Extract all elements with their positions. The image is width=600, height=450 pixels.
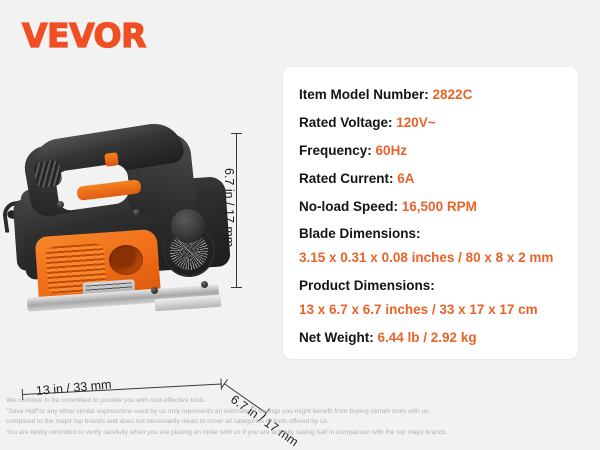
spec-value: 16,500 RPM: [402, 199, 477, 214]
electric-planer-illustration: [5, 105, 235, 320]
planer-screw: [151, 287, 158, 294]
spec-label: Blade Dimensions:: [299, 226, 421, 241]
planer-grip-ridges: [33, 159, 63, 189]
spec-row: Product Dimensions:13 x 6.7 x 6.7 inches…: [299, 278, 568, 319]
planer-screw: [133, 209, 140, 216]
spec-value: 2822C: [433, 87, 473, 102]
spec-label: Frequency:: [299, 143, 372, 158]
vevor-logo: VEVOR: [22, 16, 146, 55]
planer-screw: [201, 281, 208, 288]
planer-depth-adjustment-knob: [171, 209, 205, 243]
product-image-area: 13 in / 33 mm 6.7 in / 17 mm: [0, 95, 285, 345]
spec-row: Net Weight: 6.44 lb / 2.92 kg: [299, 330, 568, 347]
spec-label: Net Weight:: [299, 330, 374, 345]
spec-value: 3.15 x 0.31 x 0.08 inches / 80 x 8 x 2 m…: [299, 250, 568, 267]
spec-row: No-load Speed: 16,500 RPM: [299, 199, 568, 216]
spec-label: Item Model Number:: [299, 87, 429, 102]
spec-label: Rated Current:: [299, 171, 394, 186]
height-dimension-label: 6.7 in / 17 mm: [222, 160, 236, 247]
spec-label: Rated Voltage:: [299, 115, 393, 130]
specification-list: Item Model Number: 2822CRated Voltage: 1…: [299, 87, 568, 358]
spec-row: Rated Voltage: 120V~: [299, 115, 568, 132]
specification-panel: Item Model Number: 2822CRated Voltage: 1…: [283, 67, 578, 359]
planer-screw: [57, 201, 64, 208]
spec-value: 6.44 lb / 2.92 kg: [378, 330, 477, 345]
spec-label: No-load Speed:: [299, 199, 398, 214]
spec-value: 6A: [397, 171, 414, 186]
footer-line-4: You are kindly reminded to verify carefu…: [6, 428, 596, 439]
spec-value: 120V~: [396, 115, 435, 130]
spec-value: 13 x 6.7 x 6.7 inches / 33 x 17 x 17 cm: [299, 302, 568, 319]
spec-row: Item Model Number: 2822C: [299, 87, 568, 104]
product-spec-page: VEVOR: [0, 0, 600, 450]
spec-value: 60Hz: [376, 143, 408, 158]
spec-row: Rated Current: 6A: [299, 171, 568, 188]
footer-line-2: "Save Half"or any other similar expressi…: [6, 407, 596, 418]
planer-safety-lock-button: [104, 152, 119, 167]
footer-line-3: compared to the major top brands and doe…: [6, 417, 596, 428]
spec-label: Product Dimensions:: [299, 278, 435, 293]
length-dimension-label: 13 in / 33 mm: [35, 377, 112, 398]
spec-row: Blade Dimensions:3.15 x 0.31 x 0.08 inch…: [299, 226, 568, 267]
footer-line-1: We continue to be committed to provide y…: [6, 396, 596, 407]
spec-row: Frequency: 60Hz: [299, 143, 568, 160]
footer-disclaimer: We continue to be committed to provide y…: [6, 396, 596, 439]
height-dimension-line: [236, 133, 237, 288]
